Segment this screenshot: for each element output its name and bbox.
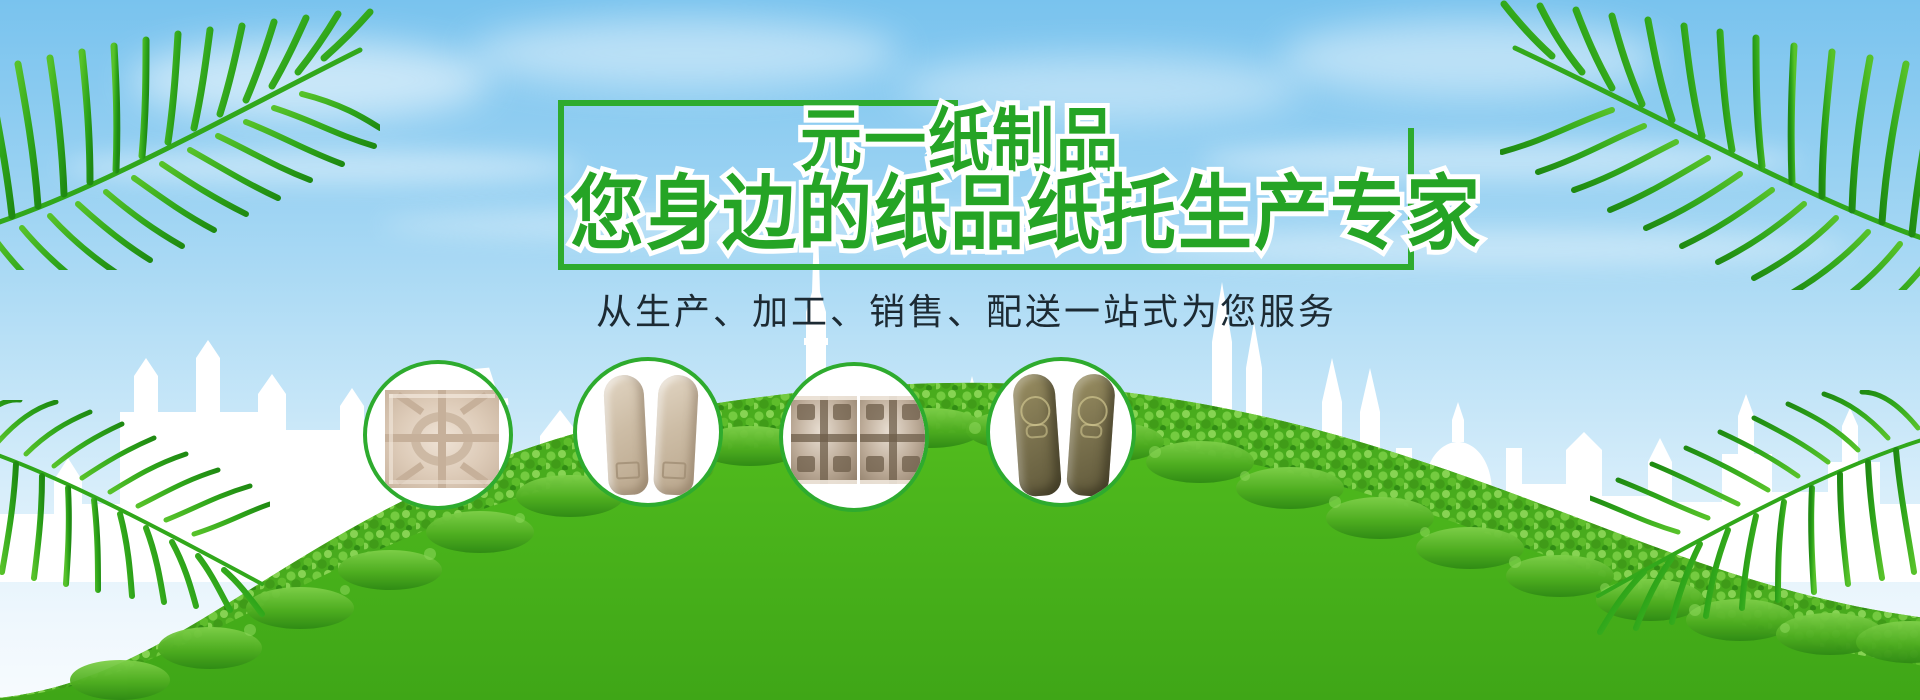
double-pulp-tray-image xyxy=(791,396,925,484)
subtitle-text: 从生产、加工、销售、配送一站式为您服务 xyxy=(596,283,1337,335)
product-circle-double-pulp-tray[interactable] xyxy=(779,362,929,512)
product-circle-square-pulp-tray[interactable] xyxy=(363,360,513,510)
product-circle-olive-shoe-insert-pair[interactable] xyxy=(986,357,1136,507)
square-pulp-tray-image xyxy=(385,390,499,488)
page-title: 您身边的纸品纸托生产专家 xyxy=(570,148,1482,266)
promo-banner: 元一纸制品 您身边的纸品纸托生产专家 从生产、加工、销售、配送一站式为您服务 xyxy=(0,0,1920,700)
headline-block: 元一纸制品 您身边的纸品纸托生产专家 从生产、加工、销售、配送一站式为您服务 xyxy=(0,0,1920,700)
olive-shoe-insert-pair-image xyxy=(990,361,1132,503)
beige-shoe-insert-pair-image xyxy=(577,361,719,503)
product-circle-beige-shoe-insert-pair[interactable] xyxy=(573,357,723,507)
